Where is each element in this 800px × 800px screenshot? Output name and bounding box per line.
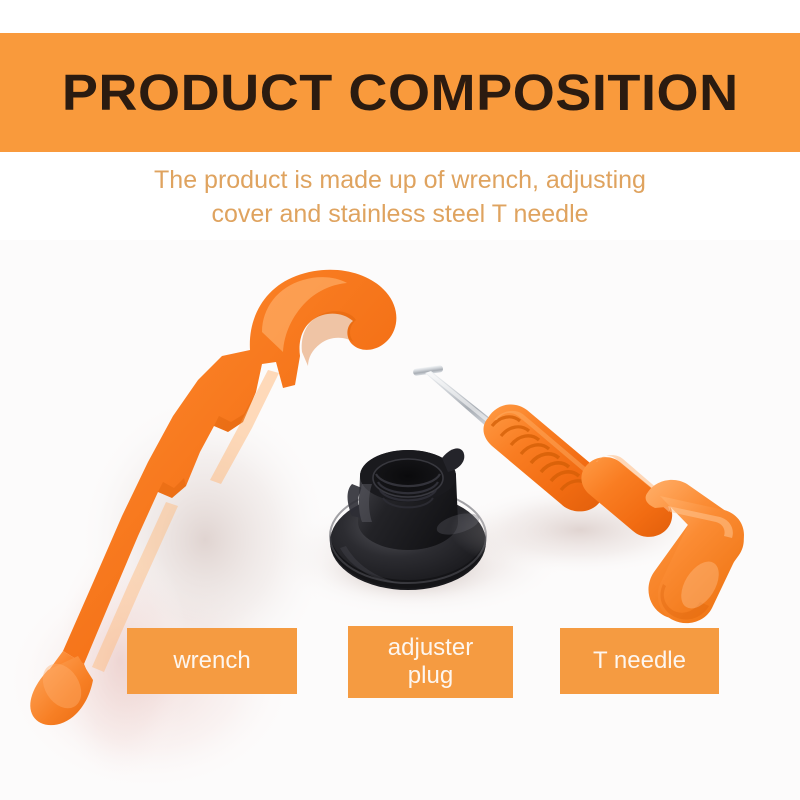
product-photo	[0, 240, 800, 800]
caption-adjuster-plug-label: adjuster plug	[388, 634, 473, 690]
caption-adjuster-plug-line-1: adjuster	[388, 634, 473, 662]
subtitle-line-1: The product is made up of wrench, adjust…	[0, 163, 800, 197]
product-photo-illustration	[0, 240, 800, 800]
caption-wrench[interactable]: wrench	[127, 628, 297, 694]
caption-t-needle-label: T needle	[593, 647, 686, 675]
caption-t-needle[interactable]: T needle	[560, 628, 719, 694]
caption-adjuster-plug[interactable]: adjuster plug	[348, 626, 513, 698]
subtitle: The product is made up of wrench, adjust…	[0, 163, 800, 231]
caption-wrench-label: wrench	[173, 647, 250, 675]
caption-adjuster-plug-line-2: plug	[388, 662, 473, 690]
page-title: PRODUCT COMPOSITION	[62, 67, 739, 118]
subtitle-line-2: cover and stainless steel T needle	[0, 197, 800, 231]
header-banner: PRODUCT COMPOSITION	[0, 33, 800, 152]
product-composition-infographic: PRODUCT COMPOSITION The product is made …	[0, 0, 800, 800]
